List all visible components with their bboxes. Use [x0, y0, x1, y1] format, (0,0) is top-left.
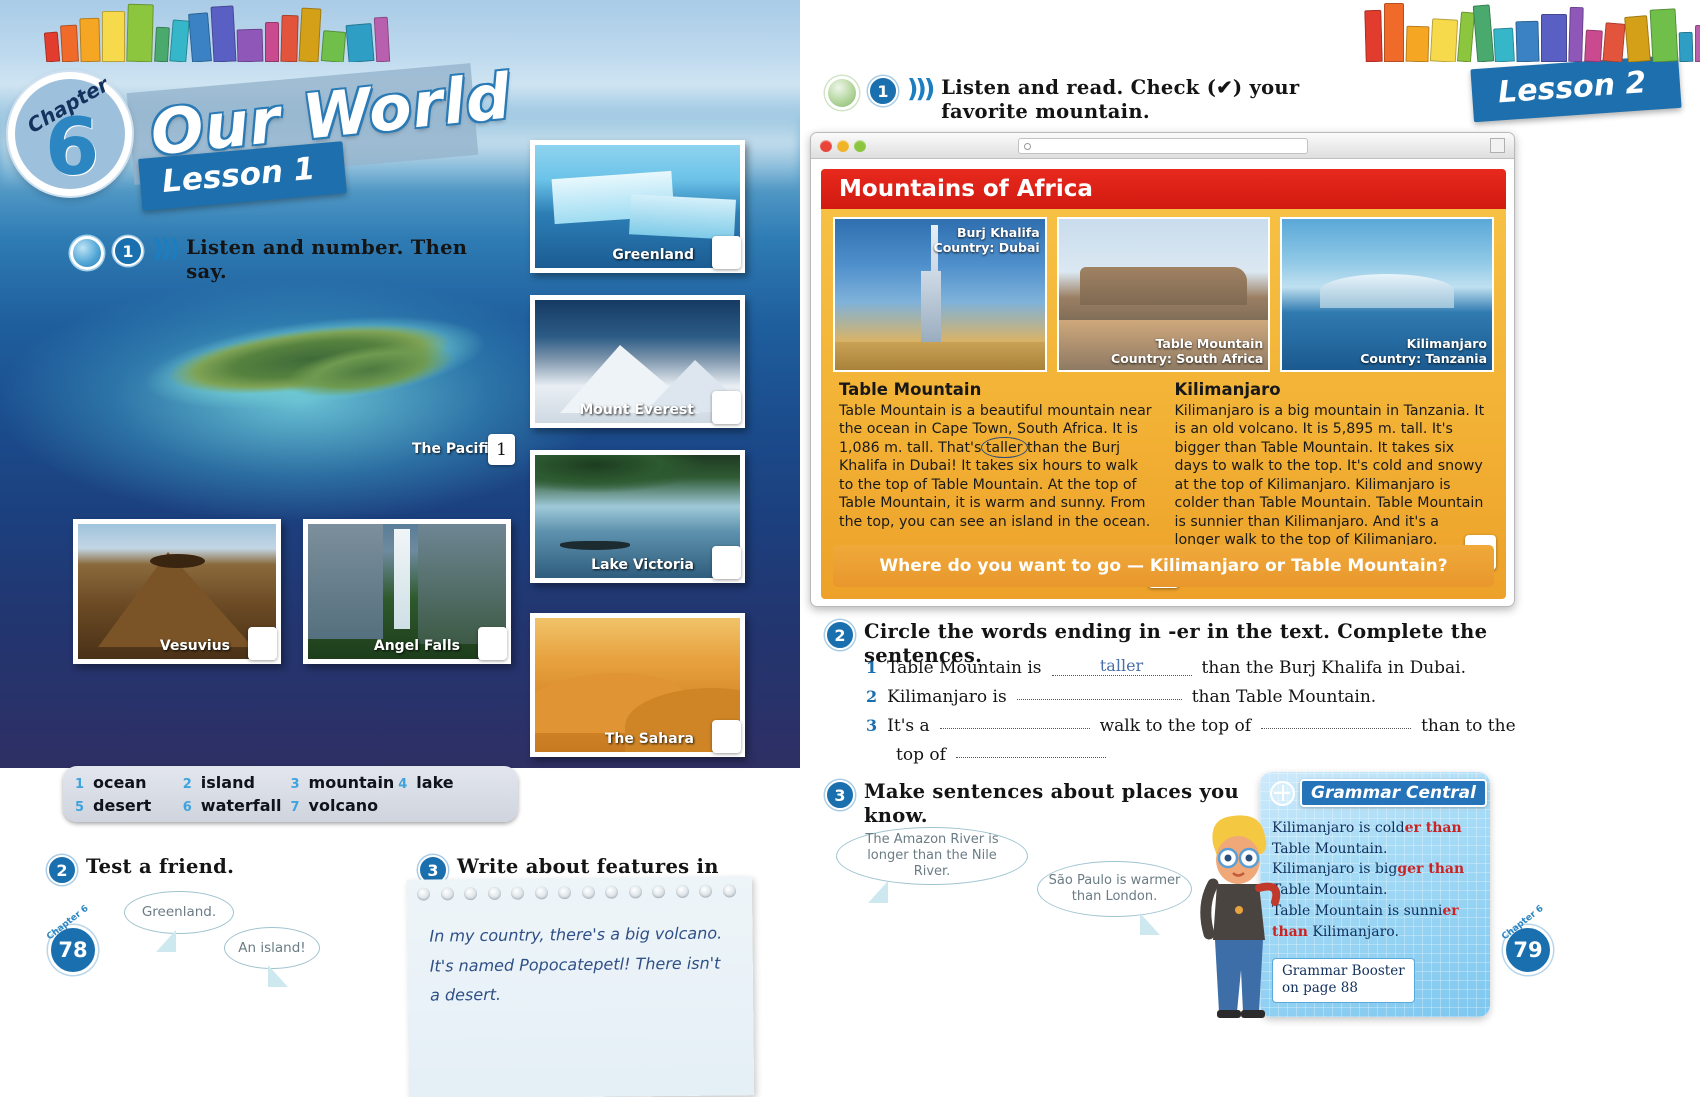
word-bank-item-3: 3 mountain [291, 773, 399, 792]
compass-icon [1270, 781, 1295, 806]
answer-box-mount-everest[interactable] [712, 391, 741, 424]
photo-vesuvius[interactable]: Vesuvius [73, 519, 281, 664]
browser-window[interactable]: Mountains of Africa Burj Khalifa Country… [810, 132, 1515, 607]
website-photo-burj-khalifa: Burj Khalifa Country: Dubai [833, 217, 1047, 372]
word-bank-num-1: 1 [75, 777, 84, 792]
word-bank-word-6: waterfall [201, 796, 282, 815]
grammar-booster-page: on page 88 [1282, 980, 1405, 998]
speaker-icon: ))) [907, 76, 932, 101]
left-page: Chapter 6 Our World Lesson 1 1 ))) Liste… [0, 0, 800, 1097]
website-header-title: Mountains of Africa [821, 169, 1506, 209]
gc-l5-plain: Table Mountain is sunni [1272, 903, 1442, 919]
grammar-central-title-row: Grammar Central [1270, 778, 1484, 808]
speech-bubble-an-island: An island! [224, 927, 320, 969]
heading-table-mountain: Table Mountain [839, 380, 1153, 399]
exercise-blank-3a[interactable] [940, 728, 1090, 729]
cd-icon [825, 76, 859, 110]
grammar-line-1: Kilimanjaro is colder than [1272, 818, 1480, 839]
paragraph-kilimanjaro: Kilimanjaro is a big mountain in Tanzani… [1175, 402, 1489, 550]
kid-svg [1195, 810, 1290, 1020]
activity-1-text-right: Listen and read. Check (✔) your favorite… [941, 76, 1341, 124]
exercise-after-2: than Table Mountain. [1192, 687, 1377, 707]
exercise-num-1: 1 [866, 658, 877, 677]
activity-1-text-left: Listen and number. Then say. [186, 236, 490, 284]
gc-l5-red: er [1442, 903, 1458, 919]
activity-number-1-left: 1 [113, 236, 143, 266]
photo-image-the-sahara: The Sahara [535, 618, 740, 752]
exercise-before-3: It's a [887, 716, 929, 736]
browser-title-bar[interactable] [811, 133, 1514, 159]
activity-2-text-left: Test a friend. [86, 855, 234, 879]
photo-lake-victoria[interactable]: Lake Victoria [530, 450, 745, 583]
website-text-columns: Table Mountain Table Mountain is a beaut… [821, 372, 1506, 550]
photo-image-vesuvius: Vesuvius [78, 524, 276, 659]
grammar-central-title: Grammar Central [1300, 779, 1487, 807]
window-resize-button[interactable] [1490, 138, 1505, 153]
gc-l1-plain: Kilimanjaro is cold [1272, 820, 1405, 836]
word-bank-word-2: island [201, 773, 255, 792]
website-photo-caption-kilimanjaro: Kilimanjaro Country: Tanzania [1360, 336, 1487, 366]
caption-country-burj: Country: Dubai [934, 240, 1040, 255]
answer-box-lake-victoria[interactable] [712, 546, 741, 579]
right-page: Lesson 2 1 ))) Listen and read. Check (✔… [800, 0, 1700, 1097]
speaker-icon: ))) [152, 236, 177, 261]
gc-l1-red: er than [1405, 820, 1462, 836]
activity-number-1-right: 1 [868, 76, 898, 106]
answer-box-greenland[interactable] [712, 236, 741, 269]
activity-1-instruction-right: 1 ))) Listen and read. Check (✔) your fa… [825, 76, 1345, 124]
word-bank-item-6: 6 waterfall [183, 796, 291, 815]
grammar-line-2: Table Mountain. [1272, 839, 1480, 860]
caption-name-burj: Burj Khalifa [957, 225, 1040, 240]
word-bank-num-3: 3 [291, 777, 300, 792]
word-bank-item-1: 1 ocean [75, 773, 183, 792]
photo-label-the-pacific: The Pacific [412, 441, 497, 1092]
word-bank-word-7: volcano [309, 796, 379, 815]
grammar-booster-button[interactable]: Grammar Booster on page 88 [1272, 958, 1415, 1003]
lesson-tab-right: Lesson 2 [1470, 55, 1682, 122]
photo-image-greenland: Greenland [535, 145, 740, 268]
exercise-after-1: than the Burj Khalifa in Dubai. [1202, 658, 1466, 678]
photo-label-greenland: Greenland [612, 247, 694, 263]
word-bank-item-5: 5 desert [75, 796, 183, 815]
paragraph-table-mountain: Table Mountain is a beautiful mountain n… [839, 402, 1153, 531]
word-bank-word-1: ocean [93, 773, 147, 792]
grammar-line-3: Kilimanjaro is bigger than [1272, 859, 1480, 880]
website-col-kilimanjaro: Kilimanjaro Kilimanjaro is a big mountai… [1175, 380, 1489, 550]
word-bank-num-5: 5 [75, 800, 84, 815]
exercise-before-2: Kilimanjaro is [887, 687, 1007, 707]
exercise-num-2: 2 [866, 687, 877, 706]
activity-1-instruction-left: 1 ))) Listen and number. Then say. [70, 236, 490, 284]
grammar-booster-title: Grammar Booster [1282, 963, 1405, 981]
url-input[interactable] [1018, 138, 1308, 154]
maximize-icon[interactable] [854, 140, 866, 152]
exercise-line-1: 1 Table Mountain is taller than the Burj… [866, 658, 1566, 678]
exercise-num-3: 3 [866, 716, 877, 735]
exercise-line-3: 3 It's a walk to the top of than to the [866, 716, 1566, 736]
chapter-number: 6 [45, 103, 99, 193]
activity-number-2-left: 2 [47, 855, 77, 885]
speech-bubble-sao-paulo: São Paulo is warmer than London. [1037, 861, 1192, 917]
exercise-mid-3: walk to the top of [1100, 716, 1251, 736]
website-question-bar: Where do you want to go — Kilimanjaro or… [833, 545, 1494, 587]
caption-country-kili: Country: Tanzania [1360, 351, 1487, 366]
minimize-icon[interactable] [837, 140, 849, 152]
exercise-blank-1[interactable]: taller [1052, 656, 1192, 676]
circled-word-taller: taller [986, 439, 1023, 457]
word-bank-num-4: 4 [398, 777, 407, 792]
photo-label-mount-everest: Mount Everest [579, 402, 694, 418]
caption-name-table: Table Mountain [1156, 336, 1264, 351]
exercise-blank-3c[interactable] [956, 757, 1106, 758]
website-photo-caption-burj-khalifa: Burj Khalifa Country: Dubai [934, 225, 1040, 255]
answer-box-the-sahara[interactable] [712, 720, 741, 753]
photo-mount-everest[interactable]: Mount Everest [530, 295, 745, 428]
exercise-before-1: Table Mountain is [887, 658, 1041, 678]
exercise-line-2: 2 Kilimanjaro is than Table Mountain. [866, 687, 1566, 707]
activity-2-instruction-left: 2 Test a friend. [47, 855, 234, 885]
exercise-line2-before-3: top of [896, 745, 946, 765]
grammar-line-4: Table Mountain. [1272, 880, 1480, 901]
chapter-badge: Chapter 6 [8, 72, 132, 196]
photo-label-the-sahara: The Sahara [605, 731, 694, 747]
word-bank-word-5: desert [93, 796, 151, 815]
gc-l6-plain: Kilimanjaro. [1308, 924, 1399, 940]
globe-icon [70, 236, 104, 270]
photo-the-sahara[interactable]: The Sahara [530, 613, 745, 757]
exercise-after-3: than to the [1421, 716, 1516, 736]
exercise-blank-3b[interactable] [1261, 728, 1411, 729]
answer-box-vesuvius[interactable] [248, 627, 277, 660]
heading-kilimanjaro: Kilimanjaro [1175, 380, 1489, 399]
speech-bubble-amazon: The Amazon River is longer than the Nile… [836, 827, 1028, 885]
activity-2-items: 1 Table Mountain is taller than the Burj… [866, 658, 1566, 774]
photo-image-mount-everest: Mount Everest [535, 300, 740, 423]
website-photo-caption-table-mountain: Table Mountain Country: South Africa [1111, 336, 1263, 366]
word-bank-item-2: 2 island [183, 773, 291, 792]
grammar-central-body: Kilimanjaro is colder than Table Mountai… [1272, 818, 1480, 942]
word-bank-word-3: mountain [309, 773, 395, 792]
word-bank-item-7: 7 volcano [291, 796, 399, 815]
photo-label-vesuvius: Vesuvius [160, 638, 230, 654]
speech-bubble-greenland: Greenland. [124, 891, 234, 934]
activity-3-instruction-right: 3 Make sentences about places you know. [825, 780, 1255, 828]
website-photo-row: Burj Khalifa Country: Dubai Table Mounta… [821, 209, 1506, 372]
word-bank-num-6: 6 [183, 800, 192, 815]
photo-image-lake-victoria: Lake Victoria [535, 455, 740, 578]
activity-number-2-right: 2 [825, 620, 855, 650]
website-content: Mountains of Africa Burj Khalifa Country… [821, 169, 1506, 599]
grammar-line-6: than Kilimanjaro. [1272, 922, 1480, 943]
grammar-central-box: Grammar Central Kilimanjaro is colder th… [1260, 772, 1490, 1017]
exercise-line-3b: top of [896, 745, 1566, 765]
gc-l3-plain: Kilimanjaro is big [1272, 861, 1397, 877]
caption-name-kili: Kilimanjaro [1407, 336, 1487, 351]
website-photo-table-mountain: Table Mountain Country: South Africa [1057, 217, 1271, 372]
word-bank-num-2: 2 [183, 777, 192, 792]
caption-country-table: Country: South Africa [1111, 351, 1263, 366]
grammar-line-5: Table Mountain is sunnier [1272, 901, 1480, 922]
photo-greenland[interactable]: Greenland [530, 140, 745, 273]
website-photo-kilimanjaro: Kilimanjaro Country: Tanzania [1280, 217, 1494, 372]
activity-number-3-right: 3 [825, 780, 855, 810]
gc-l3-red: ger than [1397, 861, 1464, 877]
word-bank-num-7: 7 [291, 800, 300, 815]
kid-illustration [1195, 810, 1290, 1020]
answer-box-the-pacific[interactable]: 1 [488, 434, 515, 465]
exercise-blank-2[interactable] [1017, 699, 1182, 700]
close-icon[interactable] [820, 140, 832, 152]
search-icon [1024, 143, 1031, 150]
photo-label-lake-victoria: Lake Victoria [591, 557, 694, 573]
website-col-table-mountain: Table Mountain Table Mountain is a beaut… [839, 380, 1153, 550]
